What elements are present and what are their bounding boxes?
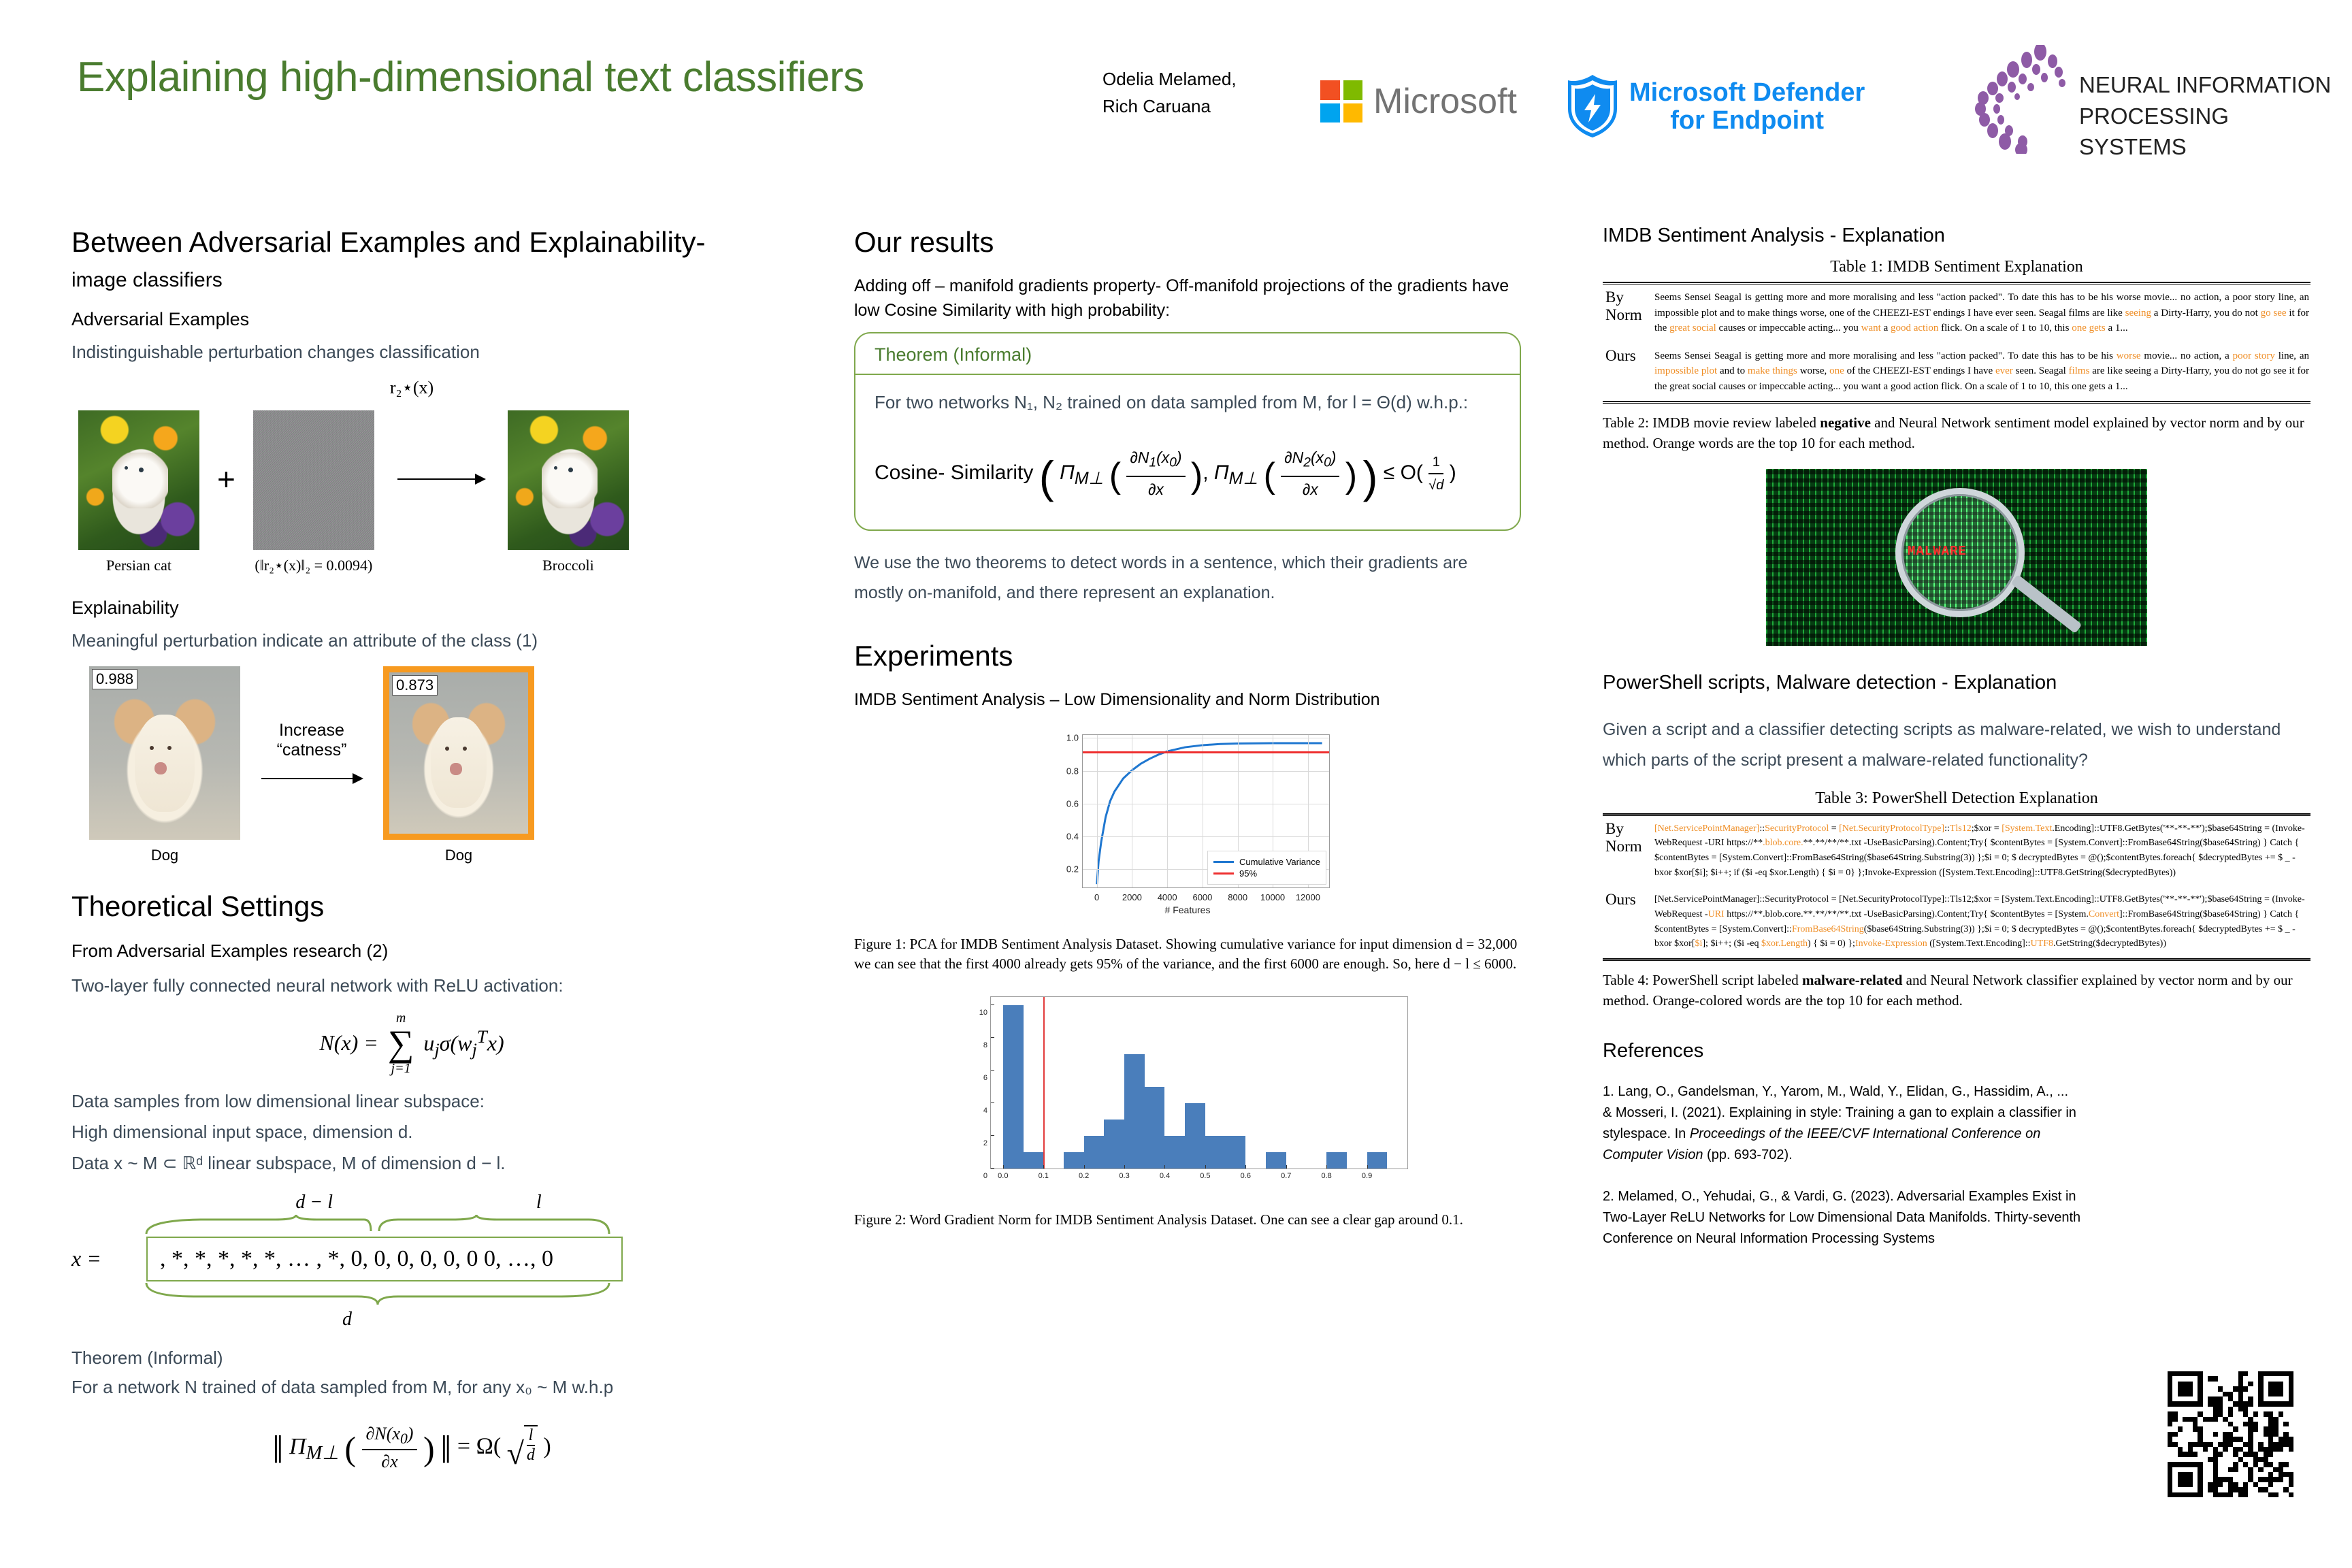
- histogram-bar: [1003, 1005, 1024, 1169]
- figure-1-plot-area: 1.0 0.8 0.6 0.4 0.2 0 2000 4000 6000 800…: [1082, 734, 1330, 888]
- fig1-xtick-4000: 4000: [1158, 892, 1177, 902]
- highlighted-token: ever: [1995, 365, 2013, 376]
- histogram-bar: [1164, 1136, 1185, 1169]
- microsoft-squares-icon: [1320, 80, 1362, 122]
- author-line-2: Rich Caruana: [1102, 93, 1237, 120]
- plain-token: flick. On a scale of 1 to 10, this: [1938, 323, 2072, 333]
- plain-token: a 1...: [2106, 323, 2128, 333]
- broccoli-misclassified-image: [508, 410, 629, 550]
- table-row: OursSeems Sensei Seagal is getting more …: [1603, 343, 2310, 402]
- author-line-1: Odelia Melamed,: [1102, 65, 1237, 93]
- column-middle: Our results Adding off – manifold gradie…: [854, 225, 1521, 1230]
- reference-2-line-1: 2. Melamed, O., Yehudai, G., & Vardi, G.…: [1603, 1186, 2310, 1207]
- microsoft-wordmark: Microsoft: [1373, 81, 1517, 122]
- plain-token: =: [1829, 823, 1839, 834]
- adversarial-result: Broccoli: [508, 410, 629, 574]
- reference-2-line-3: Conference on Neural Information Process…: [1603, 1228, 2310, 1249]
- brace-top-left-label: d − l: [295, 1192, 333, 1213]
- cosine-similarity-formula: Cosine- Similarity ( ΠM⊥ ( ∂N1(x0) ∂x ),…: [875, 442, 1501, 514]
- defender-wordmark: Microsoft Defender for Endpoint: [1629, 80, 1865, 133]
- highlighted-token: $xor.Length: [1761, 938, 1808, 949]
- fig2-ytick: 4: [991, 1102, 994, 1103]
- dog-perturbed: 0.873 Dog: [383, 666, 534, 864]
- plain-token: ::: [1759, 823, 1765, 834]
- highlighted-token: UTF8: [2031, 938, 2053, 949]
- adv-caption-left: Persian cat: [78, 557, 199, 574]
- neurips-line-1: NEURAL INFORMATION: [2079, 69, 2341, 101]
- reference-1-line-2: & Mosseri, I. (2021). Explaining in styl…: [1603, 1102, 2310, 1124]
- our-results-text: Adding off – manifold gradients property…: [854, 274, 1521, 323]
- row-label: Ours: [1603, 887, 1653, 958]
- reference-1-line-1: 1. Lang, O., Gandelsman, Y., Yarom, M., …: [1603, 1081, 2310, 1102]
- theory-line-2: Data samples from low dimensional linear…: [71, 1089, 752, 1115]
- fig2-xtick: 0.2: [1084, 1165, 1085, 1169]
- references-title: References: [1603, 1040, 2310, 1062]
- plain-token: .GetString($decryptedBytes)): [2053, 938, 2166, 949]
- histogram-bar: [1145, 1087, 1165, 1169]
- network-formula: N(x) = m ∑ j=1 ujσ(wjTx): [71, 1011, 752, 1075]
- fig1-ytick-0.6: 0.6: [1066, 798, 1079, 808]
- table-row: ByNormSeems Sensei Seagal is getting mor…: [1603, 284, 2310, 343]
- plain-token: line, an: [2275, 350, 2309, 361]
- author-list: Odelia Melamed, Rich Caruana: [1102, 65, 1237, 120]
- section-title-sub: image classifiers: [71, 269, 223, 291]
- highlighted-token: $i: [1695, 938, 1703, 949]
- fig1-xtick-12000: 12000: [1296, 892, 1320, 902]
- brace-top-right-label: l: [536, 1192, 542, 1213]
- fig2-ytick: 2: [991, 1135, 994, 1136]
- fig1-xtick-0: 0: [1094, 892, 1099, 902]
- column-left: Between Adversarial Examples and Explain…: [71, 225, 752, 1473]
- fig1-ytick-0.8: 0.8: [1066, 766, 1079, 776]
- highlighted-token: worse: [2117, 350, 2141, 361]
- highlighted-token: .blob.core.: [1763, 838, 1803, 848]
- highlighted-token: poor story: [2233, 350, 2275, 361]
- cosine-formula-label: Cosine- Similarity: [875, 461, 1033, 484]
- score-badge-left: 0.988: [92, 669, 137, 689]
- experiments-subtitle: IMDB Sentiment Analysis – Low Dimensiona…: [854, 688, 1521, 713]
- plain-token: movie... no action, a: [2141, 350, 2233, 361]
- dog-caption-right: Dog: [383, 847, 534, 864]
- highlighted-token: Tls12: [1950, 823, 1972, 834]
- fig1-xtick-8000: 8000: [1228, 892, 1247, 902]
- malware-matrix-image: MALWARE: [1766, 469, 2147, 646]
- histogram-bar: [1084, 1136, 1105, 1169]
- adversarial-figure: Persian cat + (‖r₂⋆(x)‖₂ = 0.0094) Brocc…: [78, 410, 752, 574]
- highlighted-token: good action: [1891, 323, 1938, 333]
- plus-icon: +: [217, 461, 235, 497]
- table-3-bottom-rule: [1603, 958, 2310, 961]
- figure-2-plot-area: 02468100.00.10.20.30.40.50.60.70.80.9: [990, 996, 1408, 1169]
- fig2-xtick: 0.1: [1043, 1165, 1044, 1169]
- dog-image-original: 0.988: [89, 666, 240, 840]
- fig2-xtick: 0.4: [1164, 1165, 1165, 1169]
- microsoft-defender-logo: Microsoft Defender for Endpoint: [1565, 73, 1865, 139]
- arrow-label-line1: Increase: [240, 721, 383, 740]
- sum-icon: ∑: [388, 1025, 414, 1062]
- arrow-label-line2: “catness”: [240, 740, 383, 760]
- dog-caption-left: Dog: [89, 847, 240, 864]
- fig2-ytick: 10: [991, 1004, 994, 1005]
- explainability-figure: 0.988 Dog Increase “catness” 0.873 Dog: [89, 666, 752, 864]
- figure-1-legend: Cumulative Variance 95%: [1207, 851, 1326, 885]
- fig2-xtick: 0.5: [1205, 1165, 1206, 1169]
- brace-bottom-icon: [71, 1281, 752, 1309]
- fig1-xtick-2000: 2000: [1122, 892, 1142, 902]
- histogram-bar: [1367, 1152, 1388, 1169]
- highlighted-token: seeing: [2125, 308, 2151, 318]
- theory-line-1: Two-layer fully connected neural network…: [71, 973, 752, 999]
- neurips-wordmark: NEURAL INFORMATION PROCESSING SYSTEMS: [2079, 69, 2341, 163]
- section-title-between-adversarial: Between Adversarial Examples and Explain…: [71, 225, 752, 294]
- adversarial-perturbation: (‖r₂⋆(x)‖₂ = 0.0094): [253, 410, 374, 574]
- qr-code[interactable]: [2168, 1371, 2293, 1497]
- theorem-card-text: For two networks N₁, N₂ trained on data …: [875, 389, 1501, 417]
- histogram-bar: [1326, 1152, 1347, 1169]
- highlighted-token: [System.Text: [2002, 823, 2052, 834]
- section-title-theoretical-settings: Theoretical Settings: [71, 889, 752, 924]
- highlighted-token: SecurityProtocol: [1765, 823, 1829, 834]
- fig1-xaxis-label: # Features: [1041, 904, 1334, 915]
- powershell-description: Given a script and a classifier detectin…: [1603, 715, 2310, 776]
- theorem-informal-text: For a network N trained of data sampled …: [71, 1375, 752, 1401]
- plain-token: ;$xor =: [1972, 823, 2002, 834]
- fig2-xtick: 0.9: [1367, 1165, 1368, 1169]
- adversarial-examples-text: Indistinguishable perturbation changes c…: [71, 340, 752, 365]
- neurips-logo: NEURAL INFORMATION PROCESSING SYSTEMS: [1960, 45, 2341, 154]
- highlighted-token: URI: [1708, 909, 1725, 919]
- brace-top-icon: [71, 1213, 752, 1237]
- theory-line-3: High dimensional input space, dimension …: [71, 1120, 752, 1145]
- brace-bottom-label: d: [71, 1309, 752, 1330]
- highlighted-token: one: [1829, 365, 1844, 376]
- fig1-xtick-6000: 6000: [1192, 892, 1212, 902]
- highlighted-token: FromBase64String: [1792, 924, 1864, 934]
- dog-image-perturbed: 0.873: [383, 666, 534, 840]
- malware-label: MALWARE: [1908, 544, 1967, 559]
- highlighted-token: Convert: [2089, 909, 2119, 919]
- histogram-bar: [1266, 1152, 1286, 1169]
- poster-header: Explaining high-dimensional text classif…: [0, 0, 2352, 184]
- row-content: [Net.ServicePointManager]::SecurityProto…: [1653, 887, 2310, 958]
- neurips-line-2: PROCESSING SYSTEMS: [2079, 101, 2341, 163]
- plain-token: causes or impeccable acting... you: [1716, 323, 1861, 333]
- table-4-caption: Table 4: PowerShell script labeled malwa…: [1603, 970, 2310, 1011]
- page-title: Explaining high-dimensional text classif…: [77, 53, 864, 101]
- section-title-main: Between Adversarial Examples and Explain…: [71, 226, 706, 258]
- theorem-formula: ‖ ΠM⊥ ( ∂N(x0) ∂x ) ‖ = Ω( √ ld ): [71, 1424, 752, 1472]
- plain-token: ([System.Text.Encoding]::: [1927, 938, 2031, 949]
- table-2-caption-pre: Table 2: IMDB movie review labeled: [1603, 414, 1820, 431]
- table-2-caption: Table 2: IMDB movie review labeled negat…: [1603, 413, 2310, 454]
- theory-line-4: Data x ~ M ⊂ ℝᵈ linear subspace, M of di…: [71, 1151, 752, 1177]
- row-content: Seems Sensei Seagal is getting more and …: [1653, 284, 2310, 343]
- fig1-series-95-percent: [1083, 751, 1329, 753]
- plain-token: worse,: [1797, 365, 1829, 376]
- vector-diagram: d − l l x = , *, *, *, *, *, … , *, 0, 0…: [71, 1192, 752, 1330]
- histogram-bar: [1124, 1054, 1145, 1169]
- histogram-bar: [1104, 1120, 1124, 1169]
- microsoft-logo: Microsoft: [1320, 80, 1517, 122]
- score-badge-right: 0.873: [392, 675, 438, 696]
- row-content: [Net.ServicePointManager]::SecurityProto…: [1653, 816, 2310, 887]
- histogram-bar: [1205, 1136, 1226, 1169]
- theory-source-text: From Adversarial Examples research (2): [71, 938, 752, 964]
- figure-2-gradient-norm-histogram: 02468100.00.10.20.30.40.50.60.70.80.9: [963, 992, 1412, 1196]
- catness-arrow-group: Increase “catness”: [240, 721, 383, 779]
- network-formula-rhs: ujσ(wjTx): [423, 1026, 504, 1060]
- fig1-legend-label-0: Cumulative Variance: [1239, 857, 1320, 867]
- explainability-heading: Explainability: [71, 598, 752, 619]
- figure-1-pca-chart: 1.0 0.8 0.6 0.4 0.2 0 2000 4000 6000 800…: [1041, 729, 1334, 919]
- table-1-bottom-rule: [1603, 401, 2310, 404]
- histogram-bar: [1064, 1152, 1084, 1169]
- highlighted-token: [Net.SecurityProtocolType]: [1839, 823, 1944, 834]
- plain-token: ]; $i++; ($i -eq: [1702, 938, 1761, 949]
- table-4-caption-pre: Table 4: PowerShell script labeled: [1603, 972, 1802, 988]
- network-formula-lhs: N(x) =: [319, 1030, 378, 1056]
- dog-original: 0.988 Dog: [89, 666, 240, 864]
- theorem-card: Theorem (Informal) For two networks N₁, …: [854, 332, 1521, 531]
- fig2-xtick: 0.8: [1326, 1165, 1327, 1169]
- vector-lhs: x =: [71, 1246, 146, 1271]
- our-results-footer: We use the two theorems to detect words …: [854, 549, 1521, 608]
- adv-caption-mid: (‖r₂⋆(x)‖₂ = 0.0094): [253, 557, 374, 574]
- imdb-section-title: IMDB Sentiment Analysis - Explanation: [1603, 225, 2310, 247]
- persian-cat-image: [78, 410, 199, 550]
- adversarial-examples-heading: Adversarial Examples: [71, 309, 752, 330]
- reference-item-2: 2. Melamed, O., Yehudai, G., & Vardi, G.…: [1603, 1186, 2310, 1249]
- arrow-right-icon-catness: [261, 778, 362, 779]
- row-label: ByNorm: [1603, 284, 1653, 343]
- plain-token: https://**.blob.core.**.**/**/**.txt -Us…: [1725, 909, 2089, 919]
- highlighted-token: [Net.ServicePointManager]: [1654, 823, 1759, 834]
- section-title-experiments: Experiments: [854, 638, 1521, 673]
- adv-caption-right: Broccoli: [508, 557, 629, 574]
- highlighted-token: make things: [1748, 365, 1797, 376]
- fig1-ytick-0.4: 0.4: [1066, 832, 1079, 842]
- fig2-xtick: 0.3: [1124, 1165, 1125, 1169]
- highlighted-token: go see: [2261, 308, 2287, 318]
- vector-contents-box: , *, *, *, *, *, … , *, 0, 0, 0, 0, 0, 0…: [146, 1237, 623, 1281]
- row-label: ByNorm: [1603, 816, 1653, 887]
- table-1: ByNormSeems Sensei Seagal is getting mor…: [1603, 284, 2310, 401]
- threshold-line: [1043, 997, 1045, 1169]
- arrow-right-icon: [397, 478, 485, 480]
- highlighted-token: great social: [1669, 323, 1716, 333]
- plain-token: a Dirty-Harry, you do not: [2151, 308, 2261, 318]
- fig2-ytick: 0: [991, 1168, 994, 1169]
- fig1-legend-label-1: 95%: [1239, 868, 1257, 879]
- histogram-bar: [1226, 1136, 1246, 1169]
- plain-token: seen. Seagal: [2013, 365, 2069, 376]
- highlighted-token: one gets: [2072, 323, 2106, 333]
- reference-1-line-3: stylespace. In Proceedings of the IEEE/C…: [1603, 1124, 2310, 1145]
- plain-token: ::: [1944, 823, 1950, 834]
- perturbation-symbol-label: r₂⋆(x): [71, 378, 752, 398]
- section-title-our-results: Our results: [854, 225, 1521, 259]
- table-2-caption-bold: negative: [1820, 414, 1871, 431]
- fig1-xtick-10000: 10000: [1260, 892, 1285, 902]
- reference-1-line-4: Computer Vision (pp. 693-702).: [1603, 1145, 2310, 1166]
- sum-lower-limit: j=1: [388, 1062, 414, 1075]
- adversarial-original: Persian cat: [78, 410, 199, 574]
- figure-1-caption: Figure 1: PCA for IMDB Sentiment Analysi…: [854, 934, 1521, 975]
- fig1-ytick-0.2: 0.2: [1066, 864, 1079, 875]
- powershell-section-title: PowerShell scripts, Malware detection - …: [1603, 672, 2310, 694]
- plain-token: ) { $i = 0) };: [1808, 938, 1855, 949]
- theorem-card-title: Theorem (Informal): [855, 333, 1520, 374]
- plain-token: a: [1881, 323, 1891, 333]
- theorem-informal-label: Theorem (Informal): [71, 1345, 752, 1371]
- fig2-ytick: 6: [991, 1070, 994, 1071]
- neurips-dots-icon: [1960, 45, 2082, 154]
- row-label: Ours: [1603, 343, 1653, 402]
- highlighted-token: films: [2069, 365, 2090, 376]
- table-4-caption-bold: malware-related: [1802, 972, 1902, 988]
- reference-2-line-2: Two-Layer ReLU Networks for Low Dimensio…: [1603, 1207, 2310, 1228]
- table-row: ByNorm[Net.ServicePointManager]::Securit…: [1603, 816, 2310, 887]
- reference-item-1: 1. Lang, O., Gandelsman, Y., Yarom, M., …: [1603, 1081, 2310, 1166]
- defender-line-1: Microsoft Defender: [1629, 80, 1865, 105]
- figure-2-caption: Figure 2: Word Gradient Norm for IMDB Se…: [854, 1210, 1521, 1230]
- histogram-bar: [1185, 1103, 1205, 1169]
- plain-token: and to: [1717, 365, 1748, 376]
- fig2-xtick: 0.0: [1003, 1165, 1004, 1169]
- plain-token: of the CHEEZI-EST endings I have: [1844, 365, 1995, 376]
- table-3-title: Table 3: PowerShell Detection Explanatio…: [1603, 789, 2310, 808]
- perturbation-noise-image: [253, 410, 374, 550]
- fig1-ytick-1.0: 1.0: [1066, 733, 1079, 743]
- column-right: IMDB Sentiment Analysis - Explanation Ta…: [1603, 225, 2310, 1249]
- shield-icon: [1565, 73, 1620, 139]
- highlighted-token: Invoke-Expression: [1855, 938, 1927, 949]
- fig2-ytick: 8: [991, 1037, 994, 1038]
- table-3: ByNorm[Net.ServicePointManager]::Securit…: [1603, 816, 2310, 959]
- histogram-bar: [1024, 1152, 1044, 1169]
- table-1-title: Table 1: IMDB Sentiment Explanation: [1603, 258, 2310, 276]
- highlighted-token: want: [1861, 323, 1881, 333]
- fig2-xtick: 0.7: [1286, 1165, 1287, 1169]
- table-row: Ours[Net.ServicePointManager]::SecurityP…: [1603, 887, 2310, 958]
- defender-line-2: for Endpoint: [1629, 108, 1865, 133]
- highlighted-token: impossible plot: [1654, 365, 1717, 376]
- magnifier-handle-icon: [2010, 574, 2082, 633]
- fig2-xtick: 0.6: [1245, 1165, 1246, 1169]
- plain-token: Seems Sensei Seagal is getting more and …: [1654, 350, 2117, 361]
- row-content: Seems Sensei Seagal is getting more and …: [1653, 343, 2310, 402]
- explainability-text: Meaningful perturbation indicate an attr…: [71, 628, 752, 654]
